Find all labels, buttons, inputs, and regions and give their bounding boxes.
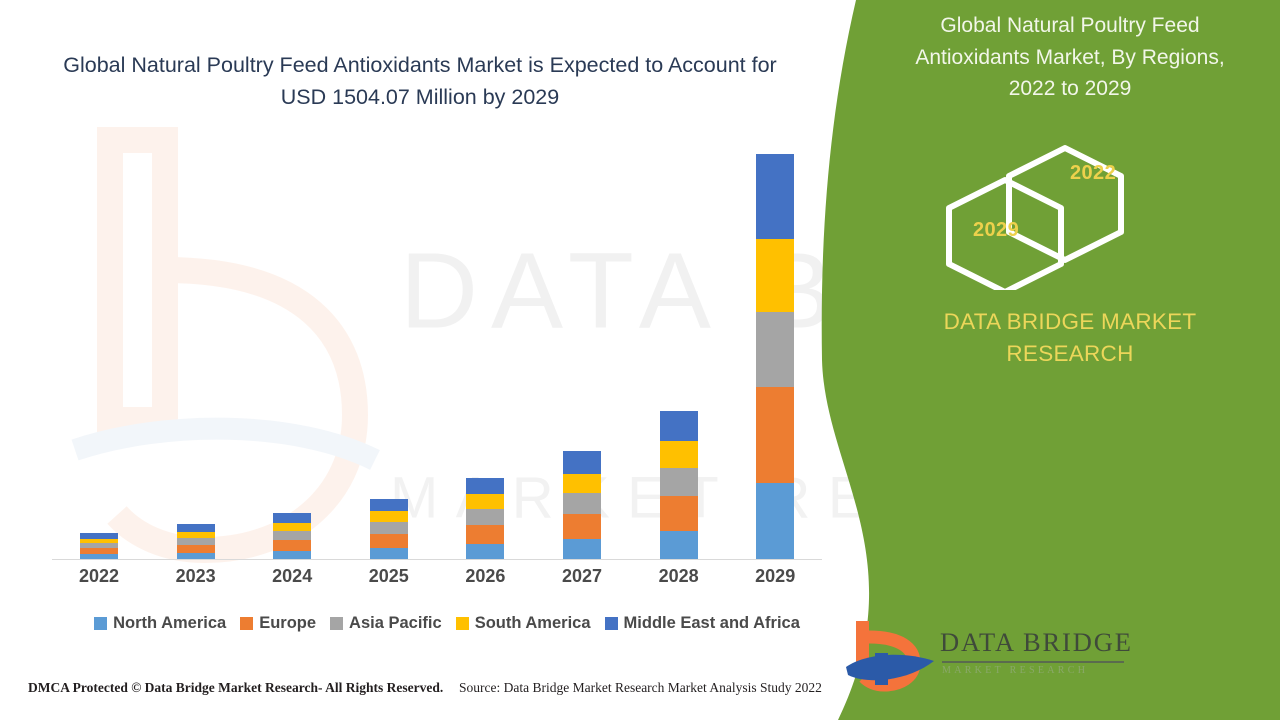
chart-segment bbox=[177, 553, 215, 559]
chart-bar-2022 bbox=[80, 533, 118, 559]
panel-title: Global Natural Poultry Feed Antioxidants… bbox=[890, 10, 1250, 105]
x-axis-label-2026: 2026 bbox=[445, 566, 525, 587]
legend-swatch-icon bbox=[456, 617, 469, 630]
green-panel-content: Global Natural Poultry Feed Antioxidants… bbox=[820, 0, 1280, 720]
logo-subtitle: MARKET RESEARCH bbox=[942, 665, 1088, 676]
chart-plot-area bbox=[52, 150, 822, 560]
legend-item[interactable]: North America bbox=[94, 614, 226, 633]
chart-segment bbox=[273, 523, 311, 531]
chart-segment bbox=[756, 154, 794, 238]
x-axis-label-2029: 2029 bbox=[735, 566, 815, 587]
chart-segment bbox=[177, 538, 215, 545]
chart-segment bbox=[563, 514, 601, 540]
legend-label: Europe bbox=[259, 614, 316, 633]
chart-panel: Global Natural Poultry Feed Antioxidants… bbox=[0, 0, 870, 720]
chart-segment bbox=[273, 531, 311, 540]
chart-segment bbox=[273, 540, 311, 551]
chart-bar-2025 bbox=[370, 499, 408, 559]
chart-segment bbox=[563, 451, 601, 473]
footer-source: Source: Data Bridge Market Research Mark… bbox=[459, 680, 822, 696]
legend-item[interactable]: Europe bbox=[240, 614, 316, 633]
legend-item[interactable]: South America bbox=[456, 614, 591, 633]
chart-segment bbox=[466, 478, 504, 495]
legend-label: North America bbox=[113, 614, 226, 633]
chart-segment bbox=[370, 499, 408, 512]
chart-segment bbox=[177, 545, 215, 553]
legend-label: Asia Pacific bbox=[349, 614, 442, 633]
chart-bar-2028 bbox=[660, 411, 698, 559]
data-bridge-b-mark-icon bbox=[842, 615, 942, 693]
chart-bar-2023 bbox=[177, 524, 215, 559]
chart-segment bbox=[660, 496, 698, 531]
chart-axis-baseline bbox=[52, 559, 822, 560]
chart-title: Global Natural Poultry Feed Antioxidants… bbox=[50, 50, 790, 114]
chart-segment bbox=[273, 551, 311, 559]
x-axis-label-2024: 2024 bbox=[252, 566, 332, 587]
chart-segment bbox=[660, 468, 698, 496]
chart-segment bbox=[466, 544, 504, 559]
legend-swatch-icon bbox=[94, 617, 107, 630]
hexagon-year-badges: 2022 2029 bbox=[925, 140, 1225, 290]
brand-name: DATA BRIDGE MARKET RESEARCH bbox=[880, 306, 1260, 370]
x-axis-label-2027: 2027 bbox=[542, 566, 622, 587]
x-axis-label-2025: 2025 bbox=[349, 566, 429, 587]
x-axis-label-2022: 2022 bbox=[59, 566, 139, 587]
hex-label-end-year: 2029 bbox=[973, 219, 1019, 242]
chart-bar-2027 bbox=[563, 451, 601, 559]
chart-x-axis-labels: 20222023202420252026202720282029 bbox=[52, 566, 822, 596]
chart-segment bbox=[370, 548, 408, 559]
chart-segment bbox=[273, 513, 311, 523]
footer: DMCA Protected © Data Bridge Market Rese… bbox=[0, 680, 860, 706]
chart-segment bbox=[80, 554, 118, 559]
chart-bar-2029 bbox=[756, 154, 794, 559]
chart-segment bbox=[563, 474, 601, 494]
hex-label-start-year: 2022 bbox=[1070, 162, 1116, 185]
footer-copyright: DMCA Protected © Data Bridge Market Rese… bbox=[28, 680, 443, 696]
legend-label: Middle East and Africa bbox=[624, 614, 800, 633]
x-axis-label-2028: 2028 bbox=[639, 566, 719, 587]
logo-divider bbox=[942, 661, 1124, 663]
chart-segment bbox=[756, 387, 794, 483]
chart-segment bbox=[756, 483, 794, 559]
chart-bar-2024 bbox=[273, 513, 311, 559]
chart-segment bbox=[563, 493, 601, 513]
legend-swatch-icon bbox=[605, 617, 618, 630]
data-bridge-logo: DATA BRIDGE MARKET RESEARCH bbox=[842, 615, 1262, 693]
legend-item[interactable]: Asia Pacific bbox=[330, 614, 442, 633]
green-side-panel: Global Natural Poultry Feed Antioxidants… bbox=[820, 0, 1280, 720]
chart-legend: North AmericaEuropeAsia PacificSouth Ame… bbox=[52, 614, 842, 633]
chart-segment bbox=[660, 531, 698, 559]
logo-wordmark: DATA BRIDGE bbox=[940, 627, 1133, 658]
legend-item[interactable]: Middle East and Africa bbox=[605, 614, 800, 633]
chart-segment bbox=[177, 524, 215, 532]
chart-segment bbox=[756, 239, 794, 312]
legend-swatch-icon bbox=[240, 617, 253, 630]
chart-segment bbox=[563, 539, 601, 559]
x-axis-label-2023: 2023 bbox=[156, 566, 236, 587]
chart-segment bbox=[370, 511, 408, 522]
legend-swatch-icon bbox=[330, 617, 343, 630]
legend-label: South America bbox=[475, 614, 591, 633]
chart-segment bbox=[466, 509, 504, 524]
chart-segment bbox=[756, 312, 794, 387]
infographic-root: DATA BRIDGE MARKET RESEARCH Global Natur… bbox=[0, 0, 1280, 720]
chart-segment bbox=[370, 534, 408, 548]
chart-bar-2026 bbox=[466, 478, 504, 559]
chart-segment bbox=[660, 411, 698, 442]
chart-segment bbox=[370, 522, 408, 533]
chart-segment bbox=[660, 441, 698, 468]
chart-segment bbox=[466, 525, 504, 544]
chart-segment bbox=[466, 494, 504, 509]
